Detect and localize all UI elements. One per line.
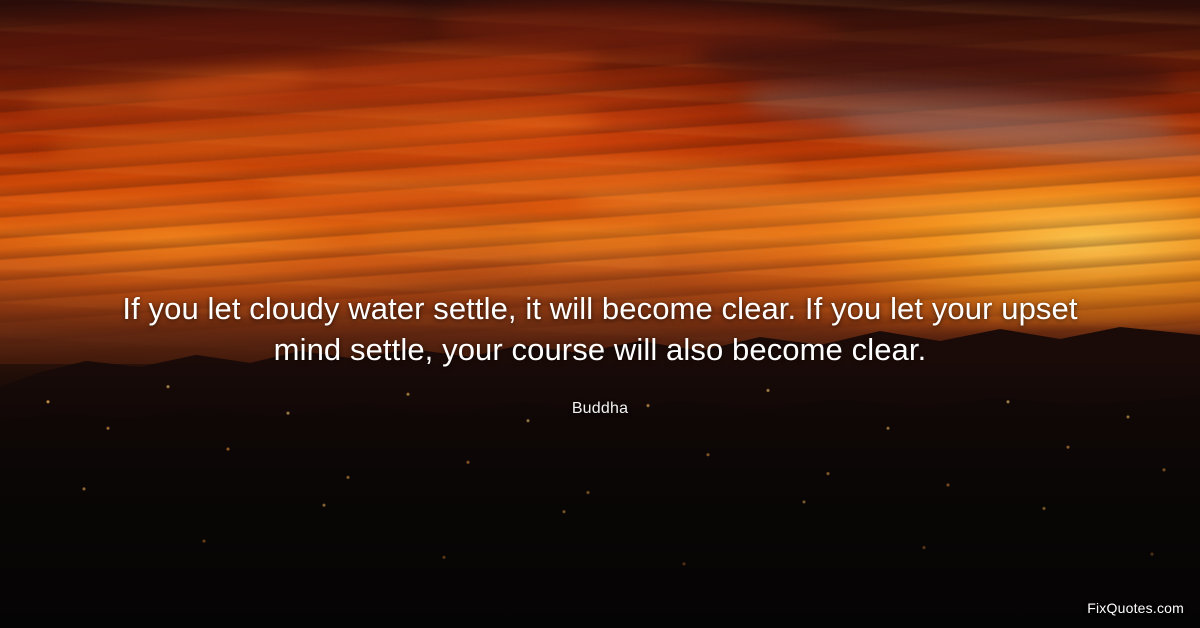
quote-author: Buddha [90, 400, 1110, 418]
site-watermark: FixQuotes.com [1087, 600, 1184, 616]
quote-text: If you let cloudy water settle, it will … [90, 288, 1110, 370]
quote-image-card: If you let cloudy water settle, it will … [0, 0, 1200, 628]
city-lights-near [0, 440, 1200, 603]
quote-block: If you let cloudy water settle, it will … [0, 288, 1200, 418]
